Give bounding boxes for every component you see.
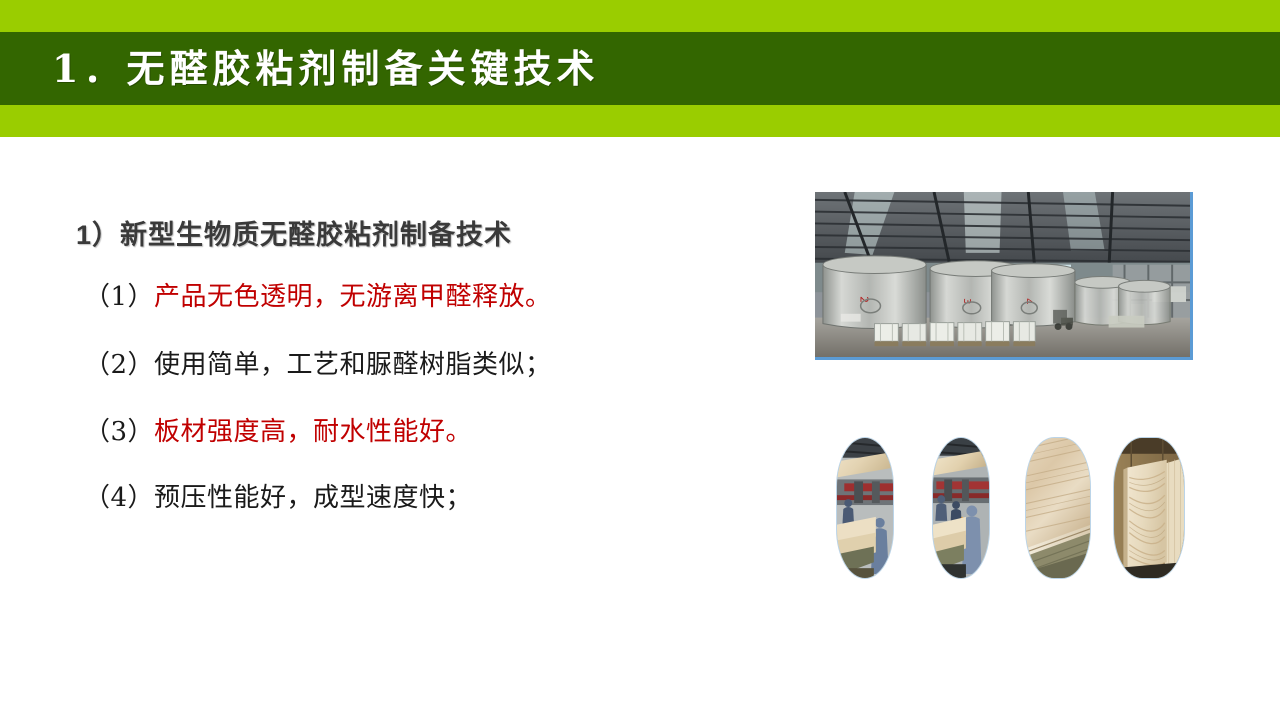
plywood-production-line-photo-1: [836, 437, 894, 579]
page-title: 1．无醛胶粘剂制备关键技术: [52, 40, 952, 100]
factory-storage-tanks-photo: 2 3 4: [815, 192, 1193, 360]
bullet-item-3: （3）板材强度高，耐水性能好。: [84, 411, 472, 448]
bullet-text-3: 板材强度高，耐水性能好。: [154, 417, 472, 447]
bullet-text-4: 预压性能好，成型速度快；: [154, 483, 472, 513]
oval-photo-graphic-4: [1114, 438, 1184, 578]
header-band-bottom: [0, 105, 1280, 137]
content-area: 1）新型生物质无醛胶粘剂制备技术 （1）产品无色透明，无游离甲醛释放。 （2）使…: [0, 137, 790, 720]
plywood-panel-surface-photo: [1025, 437, 1091, 579]
bullet-text-2: 使用简单，工艺和脲醛树脂类似；: [154, 350, 552, 380]
bullet-item-2: （2）使用简单，工艺和脲醛树脂类似；: [84, 344, 552, 381]
bullet-number-2: （2）: [84, 350, 154, 380]
oval-photo-graphic-2: [933, 438, 989, 578]
bullet-number-3: （3）: [84, 417, 154, 447]
section-heading: 1）新型生物质无醛胶粘剂制备技术: [76, 213, 512, 252]
bullet-text-1: 产品无色透明，无游离甲醛释放。: [154, 282, 552, 312]
bullet-item-1: （1）产品无色透明，无游离甲醛释放。: [84, 276, 552, 313]
slide: 1．无醛胶粘剂制备关键技术 1）新型生物质无醛胶粘剂制备技术 （1）产品无色透明…: [0, 0, 1280, 720]
bullet-item-4: （4）预压性能好，成型速度快；: [84, 477, 472, 514]
header-band-top: [0, 0, 1280, 32]
oval-photo-graphic-1: [837, 438, 893, 578]
bullet-number-4: （4）: [84, 483, 154, 513]
plywood-panel-edge-photo: [1113, 437, 1185, 579]
factory-photo-graphic: 2 3 4: [815, 192, 1190, 357]
bullet-number-1: （1）: [84, 282, 154, 312]
plywood-photo-strip: [820, 430, 1200, 586]
oval-photo-graphic-3: [1026, 438, 1090, 578]
plywood-production-line-photo-2: [932, 437, 990, 579]
